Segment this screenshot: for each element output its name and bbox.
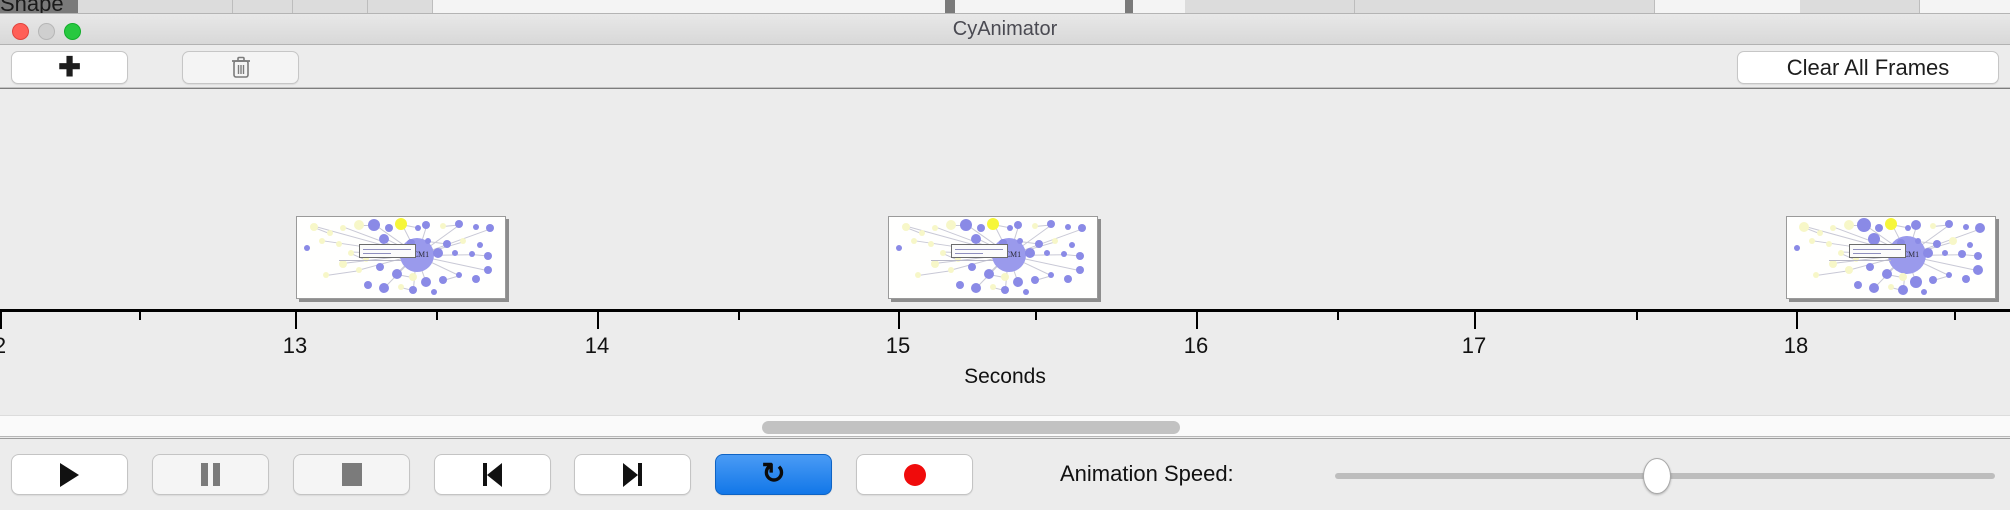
graph-node [1817,230,1823,236]
graph-node [1076,266,1084,274]
play-icon [60,463,79,487]
graph-node [379,283,389,293]
graph-node [1001,273,1009,281]
graph-node [1930,223,1936,229]
graph-node [915,272,921,278]
graph-node [1962,275,1970,283]
background-window-strip: Shape [0,0,2010,14]
graph-node [460,238,466,244]
graph-node [984,269,994,279]
graph-node [1031,276,1039,284]
graph-node [1826,241,1832,247]
graph-node [433,248,443,258]
graph-node [1799,222,1809,232]
graph-node [1844,220,1854,230]
graph-node [356,267,362,273]
graph-node [1078,224,1086,232]
ruler-tick [1337,312,1339,320]
play-button[interactable] [11,454,128,495]
ruler-tick [1035,312,1037,320]
ruler-tick-label: 15 [886,333,910,359]
ruler-tick [738,312,740,320]
graph-node [385,224,393,232]
frame-toolbar: ✚ Clear All Frames [0,45,2010,88]
animation-speed-slider[interactable] [1335,473,1995,479]
graph-node [421,277,431,287]
graph-node [977,224,985,232]
graph-node [319,238,325,244]
graph-node [409,286,417,294]
annotation-text [339,260,401,261]
plus-icon: ✚ [58,54,81,81]
graph-node [443,240,451,248]
graph-node [956,281,964,289]
ruler-tick-label: 2 [0,333,6,359]
annotation-text [931,260,993,261]
graph-node [415,225,421,231]
graph-node [1946,272,1952,278]
graph-node [486,224,494,232]
graph-node [1813,272,1819,278]
network-graph-preview: MCM1 [889,217,1097,298]
graph-node [1967,242,1973,248]
ruler-tick [1196,312,1198,329]
graph-node [484,252,492,260]
graph-node [1933,240,1941,248]
graph-node [395,218,407,230]
graph-node [919,230,925,236]
scrollbar-thumb[interactable] [762,421,1180,434]
graph-node [348,250,354,256]
graph-node [1065,224,1071,230]
delete-frame-button[interactable] [182,51,299,84]
graph-node [1963,224,1969,230]
timeline-ruler[interactable]: 2131415161718 Seconds [0,309,2010,415]
graph-node [477,242,483,248]
graph-node [1958,250,1966,258]
graph-node [1032,223,1038,229]
slider-thumb[interactable] [1643,458,1671,494]
graph-node [1866,263,1874,271]
loop-button[interactable]: ↻ [715,454,832,495]
timeline-horizontal-scrollbar[interactable] [0,415,2010,437]
graph-node [1973,265,1983,275]
graph-node [1974,252,1982,260]
graph-node [1921,289,1927,295]
graph-node [304,245,310,251]
graph-node [340,225,346,231]
ruler-tick [0,312,2,329]
graph-node [1845,266,1853,274]
stop-button[interactable] [293,454,410,495]
skip-previous-icon [483,463,502,487]
graph-node [392,269,402,279]
graph-node [1069,242,1075,248]
add-frame-button[interactable]: ✚ [11,51,128,84]
clear-all-frames-button[interactable]: Clear All Frames [1737,51,1999,84]
graph-node [1052,238,1058,244]
graph-node [339,260,347,268]
graph-node [948,267,954,273]
graph-node [1888,284,1894,290]
window-title: CyAnimator [0,14,2010,45]
annotation-text [1829,260,1891,261]
ruler-tick-label: 18 [1784,333,1808,359]
ruler-tick [1474,312,1476,329]
frame-thumbnail[interactable]: MCM1 [296,216,506,299]
graph-node [911,238,917,244]
graph-node [1830,225,1836,231]
background-window-label: Shape [0,0,64,14]
graph-node [452,250,458,256]
axis-title: Seconds [0,365,2010,389]
graph-node [971,283,981,293]
graph-node [1044,250,1050,256]
graph-node [1023,289,1029,295]
graph-node [398,284,404,290]
graph-node [1854,281,1862,289]
graph-node [376,263,384,271]
graph-node [1013,277,1023,287]
graph-node [1945,220,1953,228]
graph-node [1885,218,1897,230]
graph-node [1014,221,1022,229]
annotation-box [951,244,1008,258]
graph-node [455,220,463,228]
graph-node [472,275,480,283]
record-button[interactable] [856,454,973,495]
graph-node [1857,218,1871,232]
graph-node [968,263,976,271]
graph-node [354,220,364,230]
playback-toolbar: ↻ Animation Speed: [0,438,2010,510]
graph-node [1035,240,1043,248]
record-icon [904,464,926,486]
graph-node [1898,285,1908,295]
graph-node [422,221,430,229]
skip-next-icon [623,463,642,487]
pause-button[interactable] [152,454,269,495]
ruler-axis-line [0,309,2010,312]
graph-node [1949,237,1957,245]
graph-node [940,250,946,256]
graph-node [368,219,380,231]
graph-node [469,251,475,257]
ruler-tick [597,312,599,329]
loop-icon: ↻ [761,460,785,489]
graph-node [336,241,342,247]
graph-node [946,220,956,230]
graph-node [323,272,329,278]
network-graph-preview: MCM1 [297,217,505,298]
frame-thumbnail[interactable]: MCM1 [888,216,1098,299]
graph-node [1076,252,1084,260]
graph-node [1047,220,1055,228]
graph-node [1899,273,1907,281]
graph-node [484,266,492,274]
timeline-panel[interactable]: MCM1 MCM1 MCM1 2131415161718 Seconds [0,88,2010,415]
graph-node [1869,283,1879,293]
network-graph-preview: MCM1 [1787,217,1995,298]
graph-node [1911,220,1921,230]
graph-node [1794,245,1800,251]
ruler-tick [1954,312,1956,320]
ruler-tick-label: 13 [283,333,307,359]
graph-node [990,284,996,290]
graph-node [364,281,372,289]
graph-node [1007,225,1013,231]
graph-node [1875,224,1883,232]
graph-node [409,273,417,281]
frame-thumbnail[interactable]: MCM1 [1786,216,1996,299]
ruler-tick [295,312,297,329]
graph-node [440,223,446,229]
graph-node [310,223,318,231]
ruler-tick [436,312,438,320]
graph-node [1048,272,1054,278]
ruler-tick-label: 16 [1184,333,1208,359]
graph-node [1975,223,1985,233]
animation-speed-label: Animation Speed: [1060,461,1234,487]
graph-node [1882,269,1892,279]
graph-node [1929,276,1937,284]
graph-node [931,260,939,268]
graph-node [987,218,999,230]
graph-node [456,272,462,278]
ruler-tick-label: 14 [585,333,609,359]
title-bar: CyAnimator [0,14,2010,45]
graph-node [1061,251,1067,257]
graph-node [439,276,447,284]
graph-node [473,224,479,230]
graph-node [902,223,910,231]
pause-icon [201,463,220,486]
graph-node [1064,275,1072,283]
graph-node [1923,248,1933,258]
graph-node [932,225,938,231]
graph-node [960,219,972,231]
graph-node [1025,248,1035,258]
graph-node [327,230,333,236]
graph-node [1838,250,1844,256]
ruler-tick [898,312,900,329]
ruler-tick [1796,312,1798,329]
next-frame-button[interactable] [574,454,691,495]
annotation-box [359,244,416,258]
graph-node [431,289,437,295]
annotation-box [1849,244,1906,258]
graph-node [1809,238,1815,244]
frames-area[interactable]: MCM1 MCM1 MCM1 [0,89,2010,309]
graph-node [928,241,934,247]
previous-frame-button[interactable] [434,454,551,495]
ruler-tick-label: 17 [1462,333,1486,359]
graph-node [1910,276,1922,288]
ruler-tick [1636,312,1638,320]
graph-node [1829,260,1837,268]
graph-node [896,245,902,251]
trash-icon [230,55,252,80]
ruler-tick [139,312,141,320]
stop-icon [342,463,362,486]
graph-node [1942,250,1948,256]
graph-node [1001,286,1009,294]
graph-node [1905,225,1911,231]
